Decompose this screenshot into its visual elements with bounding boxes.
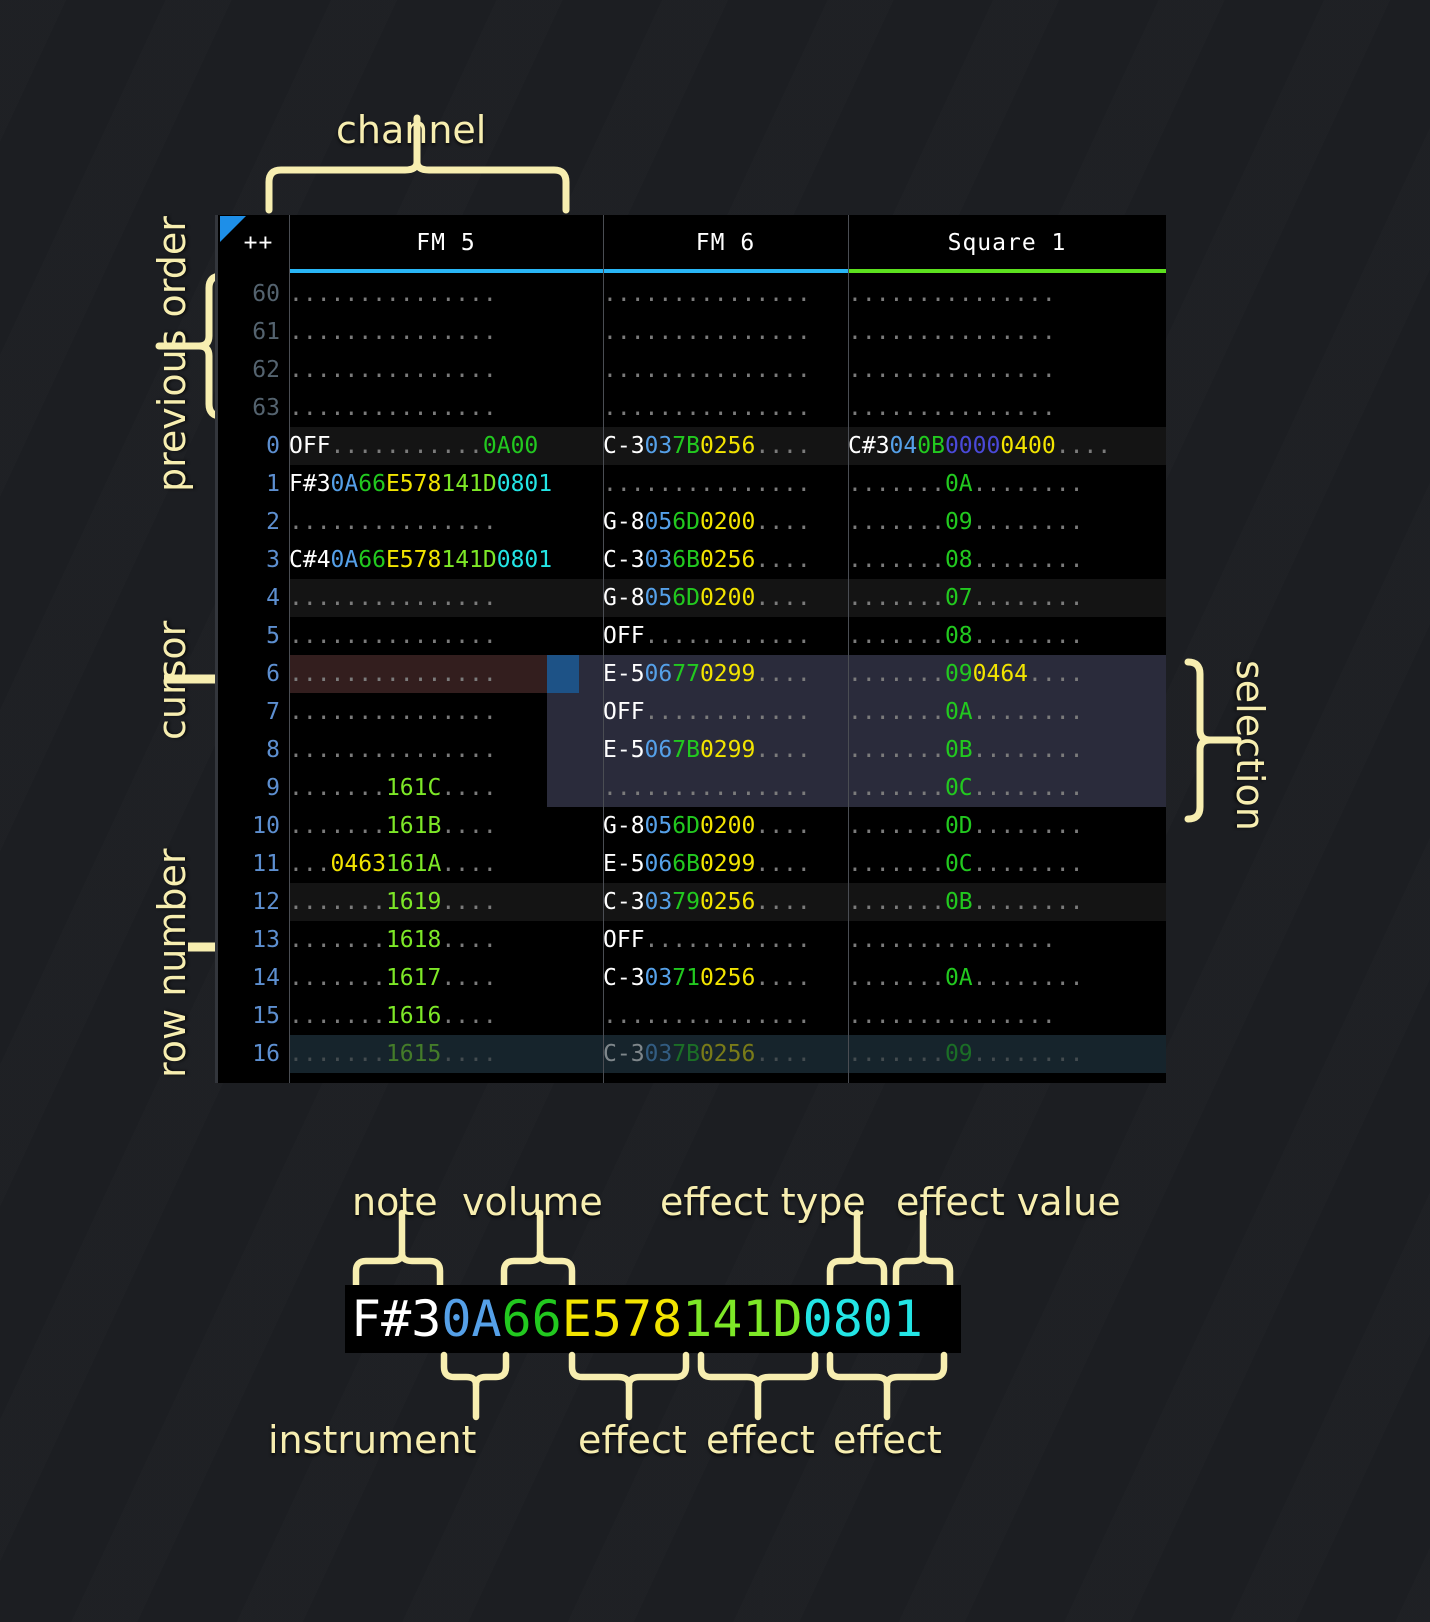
cell-segment-vol: 6D bbox=[672, 813, 700, 839]
cell-segment-dot: .... bbox=[755, 509, 810, 535]
pattern-row[interactable]: 1F#30A66E578141D0801....................… bbox=[218, 465, 1166, 503]
pattern-cell-sq1[interactable]: ............... bbox=[848, 351, 1166, 389]
pattern-cell-fm5[interactable]: .......161C.... bbox=[289, 769, 603, 807]
cell-segment-ins: 05 bbox=[645, 585, 673, 611]
cell-segment-dot: .... bbox=[441, 1003, 496, 1029]
cell-segment-eyel: 0256 bbox=[700, 965, 755, 991]
pattern-cell-sq1[interactable]: ............... bbox=[848, 997, 1166, 1035]
cell-segment-note: C#3 bbox=[848, 433, 890, 459]
row-cells[interactable]: .......1619....C-303790256...........0B.… bbox=[289, 883, 1166, 921]
cell-segment-note: E-5 bbox=[603, 737, 645, 763]
cell-segment-egrn: 161B bbox=[386, 813, 441, 839]
bracket-effect-3 bbox=[826, 1353, 948, 1419]
cell-segment-dot: .... bbox=[755, 585, 810, 611]
pattern-cell-fm5[interactable]: .......1618.... bbox=[289, 921, 603, 959]
pattern-cell-fm5[interactable]: C#40A66E578141D0801 bbox=[289, 541, 603, 579]
pattern-cell-fm6[interactable]: ............... bbox=[603, 275, 848, 313]
cell-segment-dot: ............... bbox=[848, 281, 1056, 307]
pattern-row[interactable]: 12.......1619....C-303790256...........0… bbox=[218, 883, 1166, 921]
cell-segment-dot: ........ bbox=[973, 737, 1084, 763]
row-cells[interactable]: .......1617....C-303710256...........0A.… bbox=[289, 959, 1166, 997]
cell-segment-dot: ....... bbox=[848, 699, 945, 725]
pattern-editor[interactable]: ++ FM 5FM 6Square 1 60..................… bbox=[215, 215, 1166, 1083]
cell-segment-dot: .... bbox=[441, 1041, 496, 1067]
cell-segment-dot: ............... bbox=[603, 357, 811, 383]
cell-segment-ins: 06 bbox=[645, 851, 673, 877]
cell-segment-dot: ....... bbox=[848, 775, 945, 801]
cell-segment-dot: ........... bbox=[331, 433, 483, 459]
pattern-cell-fm5[interactable]: .......1619.... bbox=[289, 883, 603, 921]
pattern-row[interactable]: 11...0463161A....E-5066B0299...........0… bbox=[218, 845, 1166, 883]
cell-segment-dot: ............... bbox=[289, 509, 497, 535]
cell-segment-dot: ............... bbox=[603, 471, 811, 497]
pattern-cell-fm5[interactable]: .......161B.... bbox=[289, 807, 603, 845]
cell-segment-dot: ....... bbox=[848, 623, 945, 649]
cell-segment-vol: 09 bbox=[945, 509, 973, 535]
cell-segment-egrn: 1619 bbox=[386, 889, 441, 915]
pattern-cell-fm5[interactable]: ............... bbox=[289, 693, 603, 731]
cell-segment-dot: .... bbox=[755, 661, 810, 687]
pattern-cell-fm6[interactable]: E-5066B0299.... bbox=[603, 845, 848, 883]
pattern-row[interactable]: 63......................................… bbox=[218, 389, 1166, 427]
row-cells[interactable]: ........................................… bbox=[289, 351, 1166, 389]
channel-separator bbox=[603, 215, 604, 1083]
row-cells[interactable]: ........................................… bbox=[289, 275, 1166, 313]
cell-segment-eyel: 0200 bbox=[700, 509, 755, 535]
row-cells[interactable]: .......1618....OFF......................… bbox=[289, 921, 1166, 959]
cell-segment-dot: ............... bbox=[603, 395, 811, 421]
pattern-cell-fm6[interactable]: OFF............ bbox=[603, 921, 848, 959]
cell-segment-vol: 08 bbox=[945, 623, 973, 649]
row-number-cell: 61 bbox=[218, 313, 288, 351]
cell-segment-note: E-5 bbox=[603, 851, 645, 877]
row-cells[interactable]: .......161B....G-8056D0200...........0D.… bbox=[289, 807, 1166, 845]
row-number-cell: 8 bbox=[218, 731, 288, 769]
cell-segment-vol: 6B bbox=[672, 547, 700, 573]
cell-segment-dot: ............... bbox=[848, 319, 1056, 345]
pattern-cell-fm5[interactable]: ............... bbox=[289, 275, 603, 313]
legend-segment-note: F#3 bbox=[351, 1290, 441, 1348]
pattern-cell-sq1[interactable]: .......0D........ bbox=[848, 807, 1166, 845]
cell-segment-vol: 0D bbox=[945, 813, 973, 839]
bracket-effect-1 bbox=[568, 1353, 690, 1419]
row-number-cell: 14 bbox=[218, 959, 288, 997]
cell-segment-vol: 66 bbox=[358, 471, 386, 497]
cell-segment-eyel: 0200 bbox=[700, 585, 755, 611]
cell-segment-egrn: 161C bbox=[386, 775, 441, 801]
cell-segment-eyel: 0299 bbox=[700, 851, 755, 877]
cell-segment-dot: ............... bbox=[289, 319, 497, 345]
pattern-cell-fm6[interactable]: ............... bbox=[603, 313, 848, 351]
cell-segment-ins: 0A bbox=[331, 471, 359, 497]
pattern-cell-fm5[interactable]: OFF...........0A00 bbox=[289, 427, 603, 465]
pattern-cell-fm6[interactable]: ............... bbox=[603, 997, 848, 1035]
cell-segment-dot: ........ bbox=[973, 547, 1084, 573]
cell-segment-dot: ............... bbox=[289, 699, 497, 725]
row-number-cell: 2 bbox=[218, 503, 288, 541]
pattern-cell-sq1[interactable]: .......07........ bbox=[848, 579, 1166, 617]
cell-segment-dot: ....... bbox=[289, 775, 386, 801]
cell-segment-vol: 0C bbox=[945, 851, 973, 877]
bracket-effect-type bbox=[826, 1237, 888, 1289]
cell-segment-egrn: 1618 bbox=[386, 927, 441, 953]
cell-segment-egrn: 141D bbox=[441, 471, 496, 497]
cell-segment-dot: ....... bbox=[848, 737, 945, 763]
cell-segment-dot: ............... bbox=[289, 737, 497, 763]
cell-segment-dot: ........ bbox=[973, 1041, 1084, 1067]
row-number-cell: 9 bbox=[218, 769, 288, 807]
cell-segment-dot: ............... bbox=[289, 623, 497, 649]
pattern-cell-fm6[interactable]: E-5067B0299.... bbox=[603, 731, 848, 769]
pattern-cell-sq1[interactable]: .......0A........ bbox=[848, 959, 1166, 997]
annotation-row-number: row number bbox=[150, 848, 194, 1078]
row-number-cell: 12 bbox=[218, 883, 288, 921]
cell-segment-note: C-3 bbox=[603, 547, 645, 573]
cell-segment-vol: 09 bbox=[945, 661, 973, 687]
row-cells[interactable]: ........................................… bbox=[289, 313, 1166, 351]
pattern-cell-fm5[interactable]: F#30A66E578141D0801 bbox=[289, 465, 603, 503]
pattern-row[interactable]: 62......................................… bbox=[218, 351, 1166, 389]
cell-segment-dot: ........ bbox=[973, 775, 1084, 801]
cell-segment-eyel: 0256 bbox=[700, 889, 755, 915]
cell-segment-eyel: 0299 bbox=[700, 661, 755, 687]
pattern-cell-fm6[interactable]: C-303790256.... bbox=[603, 883, 848, 921]
cell-segment-note: E-5 bbox=[603, 661, 645, 687]
pattern-cell-fm6[interactable]: C-3036B0256.... bbox=[603, 541, 848, 579]
cell-segment-vol: 0B bbox=[917, 433, 945, 459]
pattern-row[interactable]: 2...............G-8056D0200...........09… bbox=[218, 503, 1166, 541]
pattern-row[interactable]: 60......................................… bbox=[218, 275, 1166, 313]
cell-segment-eyel: 0256 bbox=[700, 547, 755, 573]
pattern-cell-sq1[interactable]: ............... bbox=[848, 313, 1166, 351]
cell-segment-note: C-3 bbox=[603, 889, 645, 915]
cell-segment-dot: ....... bbox=[848, 1041, 945, 1067]
row-cells[interactable]: ...............G-8056D0200...........09.… bbox=[289, 503, 1166, 541]
pattern-cell-sq1[interactable]: ............... bbox=[848, 275, 1166, 313]
channel-bracket bbox=[265, 160, 570, 212]
pattern-cell-fm5[interactable]: ............... bbox=[289, 579, 603, 617]
cell-segment-eyel: E578 bbox=[386, 547, 441, 573]
row-cells[interactable]: ...............E-5067B0299...........0B.… bbox=[289, 731, 1166, 769]
pattern-cell-sq1[interactable]: .......08........ bbox=[848, 541, 1166, 579]
cell-segment-dot: ....... bbox=[848, 851, 945, 877]
row-cells[interactable]: ...............OFF...................08.… bbox=[289, 617, 1166, 655]
row-number-cell: 5 bbox=[218, 617, 288, 655]
legend-label-effect-2: effect bbox=[706, 1418, 815, 1462]
pattern-cell-fm5[interactable]: .......1616.... bbox=[289, 997, 603, 1035]
pattern-cell-fm5[interactable]: ............... bbox=[289, 351, 603, 389]
cell-segment-note: C-3 bbox=[603, 1041, 645, 1067]
cell-segment-dot: ....... bbox=[289, 965, 386, 991]
pattern-cell-fm5[interactable]: ............... bbox=[289, 617, 603, 655]
bracket-instrument bbox=[440, 1353, 510, 1419]
cell-segment-dot: ........ bbox=[973, 965, 1084, 991]
cell-segment-dot: ....... bbox=[848, 585, 945, 611]
cell-segment-dot: ....... bbox=[848, 509, 945, 535]
cell-segment-ins: 03 bbox=[645, 965, 673, 991]
pattern-row[interactable]: 9.......161C..........................0C… bbox=[218, 769, 1166, 807]
row-cells[interactable]: ...0463161A....E-5066B0299...........0C.… bbox=[289, 845, 1166, 883]
pattern-cell-fm6[interactable]: ............... bbox=[603, 351, 848, 389]
cell-segment-ecyn: 0801 bbox=[497, 547, 552, 573]
cell-segment-note: C-3 bbox=[603, 965, 645, 991]
pattern-corner-button[interactable]: ++ bbox=[218, 215, 289, 271]
cell-segment-dot: ....... bbox=[289, 813, 386, 839]
cell-segment-dot: ............... bbox=[603, 281, 811, 307]
cell-segment-eblu: 0000 bbox=[945, 433, 1000, 459]
cell-segment-eyel: 0299 bbox=[700, 737, 755, 763]
note-format-legend: F#30A66E578141D0801 bbox=[345, 1285, 961, 1353]
cell-segment-ins: 03 bbox=[645, 1041, 673, 1067]
cell-segment-dot: ............... bbox=[848, 357, 1056, 383]
channel-header-2[interactable]: FM 6 bbox=[603, 215, 848, 271]
pattern-cell-sq1[interactable]: .......090464.... bbox=[848, 655, 1166, 693]
cell-segment-egrn: 1617 bbox=[386, 965, 441, 991]
cell-segment-dot: ............... bbox=[289, 661, 497, 687]
cell-segment-dot: ....... bbox=[289, 927, 386, 953]
row-cells[interactable]: ...............OFF...................0A.… bbox=[289, 693, 1166, 731]
cell-segment-vol: 77 bbox=[672, 661, 700, 687]
cell-segment-vol: 7B bbox=[672, 1041, 700, 1067]
pattern-cell-sq1[interactable]: .......0A........ bbox=[848, 465, 1166, 503]
legend-label-instrument: instrument bbox=[268, 1418, 476, 1462]
pattern-row[interactable]: 16.......1615....C-3037B0256...........0… bbox=[218, 1035, 1166, 1073]
cell-segment-dot: ....... bbox=[289, 889, 386, 915]
row-number-cell: 0 bbox=[218, 427, 288, 465]
pattern-cell-sq1[interactable]: .......09........ bbox=[848, 503, 1166, 541]
cell-segment-egrn: 1616 bbox=[386, 1003, 441, 1029]
pattern-cell-fm6[interactable]: C-3037B0256.... bbox=[603, 1035, 848, 1073]
cell-segment-dot: ....... bbox=[848, 661, 945, 687]
channel-header-1[interactable]: FM 5 bbox=[289, 215, 603, 271]
pattern-cell-fm6[interactable]: G-8056D0200.... bbox=[603, 503, 848, 541]
cell-segment-eyel: 0464 bbox=[973, 661, 1028, 687]
pattern-cell-fm6[interactable]: ............... bbox=[603, 389, 848, 427]
cell-segment-dot: .... bbox=[1056, 433, 1111, 459]
legend-segment-ecyn: 0801 bbox=[803, 1290, 923, 1348]
cell-segment-vol: 6B bbox=[672, 851, 700, 877]
cell-segment-dot: ........ bbox=[973, 471, 1084, 497]
pattern-cell-sq1[interactable]: .......08........ bbox=[848, 617, 1166, 655]
row-cells[interactable]: .......1615....C-3037B0256...........09.… bbox=[289, 1035, 1166, 1073]
cell-segment-dot: ....... bbox=[848, 813, 945, 839]
row-number-cell: 63 bbox=[218, 389, 288, 427]
cell-segment-dot: ............... bbox=[848, 927, 1056, 953]
row-number-cell: 60 bbox=[218, 275, 288, 313]
pattern-cell-sq1[interactable]: .......09........ bbox=[848, 1035, 1166, 1073]
pattern-row[interactable]: 7...............OFF...................0A… bbox=[218, 693, 1166, 731]
row-cells[interactable]: .......161C..........................0C.… bbox=[289, 769, 1166, 807]
pattern-row[interactable]: 4...............G-8056D0200...........07… bbox=[218, 579, 1166, 617]
cell-segment-eyel: 0200 bbox=[700, 813, 755, 839]
channel-accent-3 bbox=[848, 269, 1166, 273]
cell-segment-vol: 0C bbox=[945, 775, 973, 801]
cell-segment-dot: ............... bbox=[289, 395, 497, 421]
pattern-cell-sq1[interactable]: .......0A........ bbox=[848, 693, 1166, 731]
cell-segment-egrn: 141D bbox=[441, 547, 496, 573]
pattern-row[interactable]: 15.......1616...........................… bbox=[218, 997, 1166, 1035]
pattern-cell-fm6[interactable]: OFF............ bbox=[603, 693, 848, 731]
cell-segment-dot: ............ bbox=[645, 927, 811, 953]
pattern-cell-sq1[interactable]: ............... bbox=[848, 921, 1166, 959]
row-number-cell: 7 bbox=[218, 693, 288, 731]
row-cells[interactable]: C#40A66E578141D0801C-3036B0256..........… bbox=[289, 541, 1166, 579]
legend-label-effect-value: effect value bbox=[896, 1180, 1121, 1224]
row-number-cell: 16 bbox=[218, 1035, 288, 1073]
cell-segment-dot: ....... bbox=[848, 547, 945, 573]
cell-segment-dot: .... bbox=[755, 737, 810, 763]
cell-segment-dot: .... bbox=[441, 927, 496, 953]
pattern-row[interactable]: 5...............OFF...................08… bbox=[218, 617, 1166, 655]
row-cells[interactable]: .......1616.............................… bbox=[289, 997, 1166, 1035]
cell-segment-note: G-8 bbox=[603, 585, 645, 611]
cell-segment-dot: ............ bbox=[645, 699, 811, 725]
pattern-row[interactable]: 61......................................… bbox=[218, 313, 1166, 351]
cell-segment-ecyn: 0801 bbox=[497, 471, 552, 497]
cell-segment-ins: 0A bbox=[331, 547, 359, 573]
pattern-cell-fm6[interactable]: ............... bbox=[603, 769, 848, 807]
cell-segment-note: OFF bbox=[603, 699, 645, 725]
cell-segment-ins: 03 bbox=[645, 889, 673, 915]
pattern-cell-sq1[interactable]: .......0B........ bbox=[848, 883, 1166, 921]
cell-segment-vol: 0A00 bbox=[483, 433, 538, 459]
cell-segment-eyel: 0256 bbox=[700, 1041, 755, 1067]
pattern-cell-sq1[interactable]: C#3040B00000400.... bbox=[848, 427, 1166, 465]
cell-segment-vol: 79 bbox=[672, 889, 700, 915]
cell-segment-vol: 0A bbox=[945, 965, 973, 991]
cell-segment-vol: 7B bbox=[672, 737, 700, 763]
cell-segment-note: C#4 bbox=[289, 547, 331, 573]
pattern-cell-fm6[interactable]: C-3037B0256.... bbox=[603, 427, 848, 465]
cell-segment-vol: 71 bbox=[672, 965, 700, 991]
channel-separator bbox=[848, 215, 849, 1083]
pattern-row[interactable]: 13.......1618....OFF....................… bbox=[218, 921, 1166, 959]
corner-label: ++ bbox=[218, 215, 289, 271]
cell-segment-vol: 6D bbox=[672, 509, 700, 535]
cell-segment-note: OFF bbox=[603, 623, 645, 649]
pattern-cell-fm5[interactable]: ............... bbox=[289, 731, 603, 769]
pattern-row[interactable]: 8...............E-5067B0299...........0B… bbox=[218, 731, 1166, 769]
legend-segment-ins: 0A bbox=[441, 1290, 501, 1348]
cell-segment-vol: 09 bbox=[945, 1041, 973, 1067]
cell-segment-dot: ............... bbox=[848, 1003, 1056, 1029]
pattern-cell-fm6[interactable]: ............... bbox=[603, 465, 848, 503]
pattern-cell-sq1[interactable]: ............... bbox=[848, 389, 1166, 427]
cell-segment-vol: 0B bbox=[945, 737, 973, 763]
cell-segment-dot: .... bbox=[441, 889, 496, 915]
cell-segment-eyel: 0463 bbox=[331, 851, 386, 877]
pattern-cell-fm5[interactable]: .......1617.... bbox=[289, 959, 603, 997]
pattern-cell-sq1[interactable]: .......0C........ bbox=[848, 769, 1166, 807]
cell-segment-dot: ............... bbox=[289, 585, 497, 611]
cell-segment-dot: ............... bbox=[603, 1003, 811, 1029]
cell-segment-dot: ....... bbox=[289, 1003, 386, 1029]
cell-segment-dot: ........ bbox=[973, 623, 1084, 649]
cell-segment-eyel: E578 bbox=[386, 471, 441, 497]
cell-segment-ins: 05 bbox=[645, 813, 673, 839]
pattern-cell-fm6[interactable]: E-506770299.... bbox=[603, 655, 848, 693]
pattern-row[interactable]: 10.......161B....G-8056D0200...........0… bbox=[218, 807, 1166, 845]
cell-segment-note: OFF bbox=[289, 433, 331, 459]
cell-segment-eyel: 0400 bbox=[1000, 433, 1055, 459]
pattern-row[interactable]: 0OFF...........0A00C-3037B0256....C#3040… bbox=[218, 427, 1166, 465]
pattern-cell-fm5[interactable]: ............... bbox=[289, 313, 603, 351]
pattern-row[interactable]: 14.......1617....C-303710256...........0… bbox=[218, 959, 1166, 997]
cell-segment-note: F#3 bbox=[289, 471, 331, 497]
cell-segment-dot: .... bbox=[755, 1041, 810, 1067]
row-cells[interactable]: ...............G-8056D0200...........07.… bbox=[289, 579, 1166, 617]
legend-label-note: note bbox=[352, 1180, 438, 1224]
channel-header-3[interactable]: Square 1 bbox=[848, 215, 1166, 271]
cell-segment-dot: .... bbox=[755, 813, 810, 839]
pattern-cell-sq1[interactable]: .......0C........ bbox=[848, 845, 1166, 883]
bracket-effect-2 bbox=[697, 1353, 819, 1419]
legend-label-volume: volume bbox=[462, 1180, 603, 1224]
row-number-cell: 4 bbox=[218, 579, 288, 617]
pattern-cell-sq1[interactable]: .......0B........ bbox=[848, 731, 1166, 769]
cell-segment-dot: .... bbox=[755, 965, 810, 991]
annotation-channel: channel bbox=[336, 108, 486, 152]
cell-segment-ins: 03 bbox=[645, 547, 673, 573]
pattern-row[interactable]: 3C#40A66E578141D0801C-3036B0256.........… bbox=[218, 541, 1166, 579]
row-number-cell: 11 bbox=[218, 845, 288, 883]
bracket-note bbox=[352, 1237, 444, 1289]
cell-segment-vol: 7B bbox=[672, 433, 700, 459]
cell-segment-vol: 6D bbox=[672, 585, 700, 611]
pattern-rows[interactable]: 60......................................… bbox=[218, 275, 1166, 1083]
cell-segment-vol: 66 bbox=[358, 547, 386, 573]
cell-segment-vol: 0A bbox=[945, 699, 973, 725]
cell-segment-dot: .... bbox=[441, 813, 496, 839]
cell-segment-dot: ............... bbox=[289, 357, 497, 383]
pattern-cell-fm5[interactable]: ............... bbox=[289, 389, 603, 427]
cell-segment-vol: 08 bbox=[945, 547, 973, 573]
cell-segment-dot: .... bbox=[755, 433, 810, 459]
pattern-cell-fm6[interactable]: C-303710256.... bbox=[603, 959, 848, 997]
pattern-cell-fm5[interactable]: ............... bbox=[289, 655, 603, 693]
row-cells[interactable]: ........................................… bbox=[289, 389, 1166, 427]
pattern-cell-fm6[interactable]: G-8056D0200.... bbox=[603, 807, 848, 845]
row-number-cell: 1 bbox=[218, 465, 288, 503]
row-number-cell: 62 bbox=[218, 351, 288, 389]
row-cells[interactable]: OFF...........0A00C-3037B0256....C#3040B… bbox=[289, 427, 1166, 465]
pattern-cell-fm6[interactable]: OFF............ bbox=[603, 617, 848, 655]
legend-label-effect-1: effect bbox=[578, 1418, 687, 1462]
pattern-cell-fm5[interactable]: ............... bbox=[289, 503, 603, 541]
cell-segment-dot: .... bbox=[755, 851, 810, 877]
legend-label-effect-3: effect bbox=[833, 1418, 942, 1462]
cell-segment-dot: ............... bbox=[603, 319, 811, 345]
pattern-cell-fm6[interactable]: G-8056D0200.... bbox=[603, 579, 848, 617]
cell-segment-note: G-8 bbox=[603, 813, 645, 839]
row-cells[interactable]: ...............E-506770299...........090… bbox=[289, 655, 1166, 693]
cell-segment-dot: ............... bbox=[848, 395, 1056, 421]
pattern-cell-fm5[interactable]: ...0463161A.... bbox=[289, 845, 603, 883]
cell-segment-vol: 07 bbox=[945, 585, 973, 611]
row-cells[interactable]: F#30A66E578141D0801.....................… bbox=[289, 465, 1166, 503]
cell-segment-dot: ............... bbox=[603, 775, 811, 801]
pattern-row[interactable]: 6...............E-506770299...........09… bbox=[218, 655, 1166, 693]
cell-segment-note: OFF bbox=[603, 927, 645, 953]
row-number-cell: 10 bbox=[218, 807, 288, 845]
row-number-cell: 15 bbox=[218, 997, 288, 1035]
legend-label-effect-type: effect type bbox=[660, 1180, 866, 1224]
pattern-cell-fm5[interactable]: .......1615.... bbox=[289, 1035, 603, 1073]
cell-segment-ins: 06 bbox=[645, 737, 673, 763]
cell-segment-dot: .... bbox=[441, 851, 496, 877]
cell-segment-ins: 06 bbox=[645, 661, 673, 687]
cell-segment-dot: ....... bbox=[848, 471, 945, 497]
